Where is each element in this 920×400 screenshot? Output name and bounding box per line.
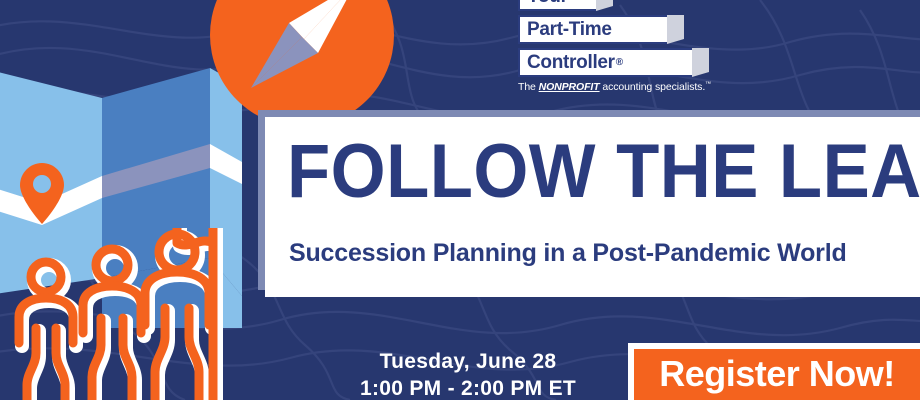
registered-mark: ® [615, 57, 623, 68]
logo-tagline: The NONPROFIT accounting specialists.™ [518, 81, 728, 93]
logo-line-your: Your [518, 0, 598, 11]
page-title: FOLLOW THE LEADER [287, 133, 920, 211]
logo-line-part-time-text: Part-Time [520, 19, 612, 41]
register-now-label: Register Now! [659, 353, 895, 395]
register-now-button[interactable]: Register Now! [628, 343, 920, 400]
company-logo: Your Part-Time Controller® The NONPROFIT… [518, 0, 728, 93]
webinar-promo-banner: Your Part-Time Controller® The NONPROFIT… [0, 0, 920, 400]
tagline-suffix: accounting specialists. [600, 81, 706, 93]
logo-line-controller-text: Controller [520, 52, 615, 74]
people-group-illustration [8, 228, 238, 400]
tagline-emphasis: NONPROFIT [539, 81, 600, 93]
event-time: 1:00 PM - 2:00 PM ET [318, 375, 618, 400]
tagline-prefix: The [518, 81, 539, 93]
page-subtitle: Succession Planning in a Post-Pandemic W… [289, 239, 847, 268]
trademark-mark: ™ [705, 82, 711, 88]
logo-line-controller: Controller® [518, 48, 694, 77]
headline-card: FOLLOW THE LEADER Succession Planning in… [265, 117, 920, 297]
event-date: Tuesday, June 28 [318, 348, 618, 375]
event-datetime: Tuesday, June 28 1:00 PM - 2:00 PM ET [318, 348, 618, 400]
logo-line-your-text: Your [520, 0, 568, 8]
logo-line-part-time: Part-Time [518, 15, 669, 44]
